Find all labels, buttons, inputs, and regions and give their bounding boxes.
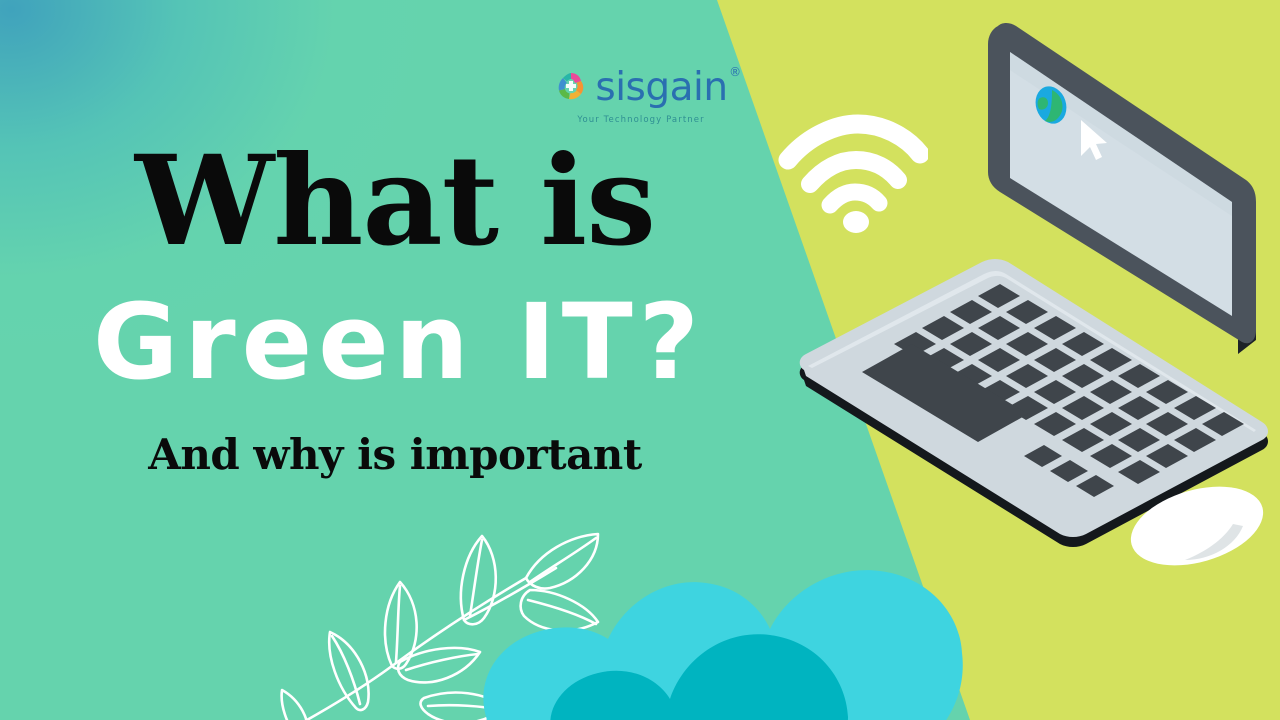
title-line-1: What is: [0, 140, 780, 264]
sisgain-pinwheel-icon: [554, 70, 588, 104]
subtitle: And why is important: [0, 434, 780, 476]
brand-logo[interactable]: sisgain ® Your Technology Partner: [536, 64, 746, 138]
cloud-blob-decoration: [480, 545, 1040, 720]
slide-canvas: sisgain ® Your Technology Partner What i…: [0, 0, 1280, 720]
registered-trademark-icon: ®: [729, 66, 741, 78]
logo-wordmark-text: sisgain: [595, 65, 727, 110]
logo-row: sisgain ®: [554, 64, 727, 110]
logo-wordmark: sisgain ®: [595, 68, 727, 107]
logo-tagline: Your Technology Partner: [577, 115, 704, 125]
title-line-2: Green IT?: [0, 290, 780, 394]
computer-mouse-illustration: [1125, 478, 1275, 578]
headline-block: What is Green IT? And why is important: [0, 140, 780, 476]
laptop-illustration: [786, 10, 1280, 550]
